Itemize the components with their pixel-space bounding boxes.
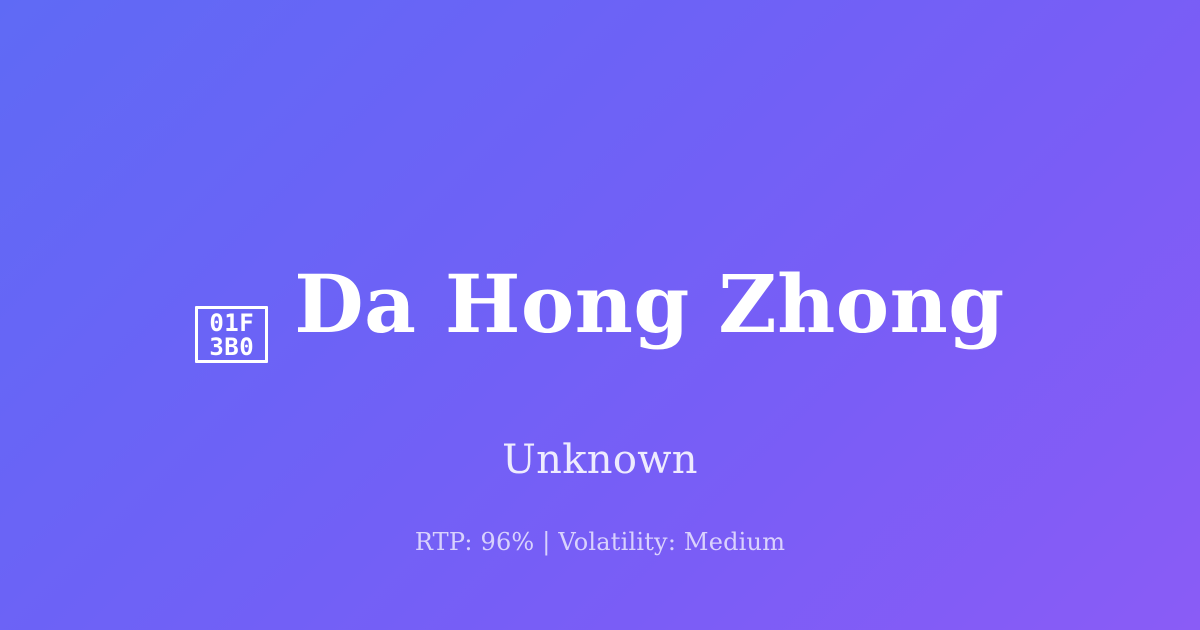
tofu-codepoint-bottom: 3B0 bbox=[209, 335, 254, 359]
slot-machine-icon: 01F 3B0 bbox=[195, 306, 268, 363]
og-card: 01F 3B0 Da Hong Zhong Unknown RTP: 96% |… bbox=[0, 0, 1200, 630]
page-title: Da Hong Zhong bbox=[294, 262, 1004, 346]
game-meta-line: RTP: 96% | Volatility: Medium bbox=[0, 527, 1200, 557]
page-subtitle: Unknown bbox=[502, 437, 698, 483]
tofu-codepoint-top: 01F bbox=[209, 311, 254, 335]
hero-block: 01F 3B0 Da Hong Zhong Unknown bbox=[0, 208, 1200, 483]
title-row: 01F 3B0 Da Hong Zhong bbox=[195, 208, 1004, 399]
